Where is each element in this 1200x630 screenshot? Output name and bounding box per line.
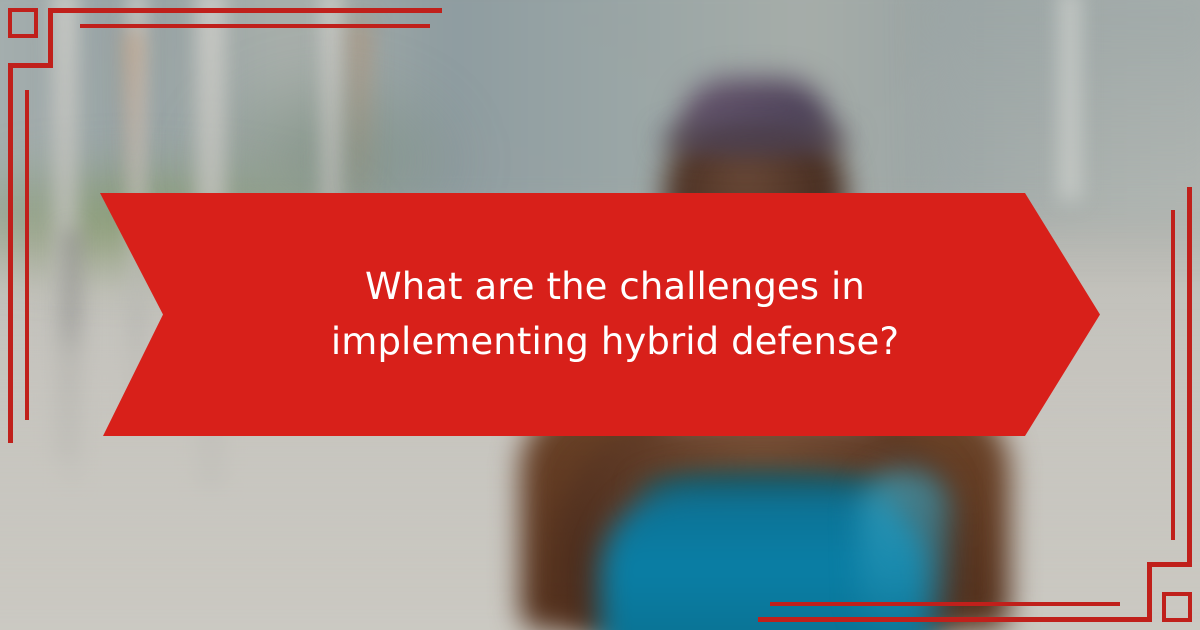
headline-text: What are the challenges in implementing … [260,260,970,370]
background-post-orange-1 [126,30,140,210]
subject-shirt-highlight [860,470,950,630]
banner-canvas: What are the challenges in implementing … [0,0,1200,630]
subject-cap-brim [660,126,850,152]
headline-ribbon: What are the challenges in implementing … [100,193,1100,436]
background-pole-right [1060,0,1080,200]
